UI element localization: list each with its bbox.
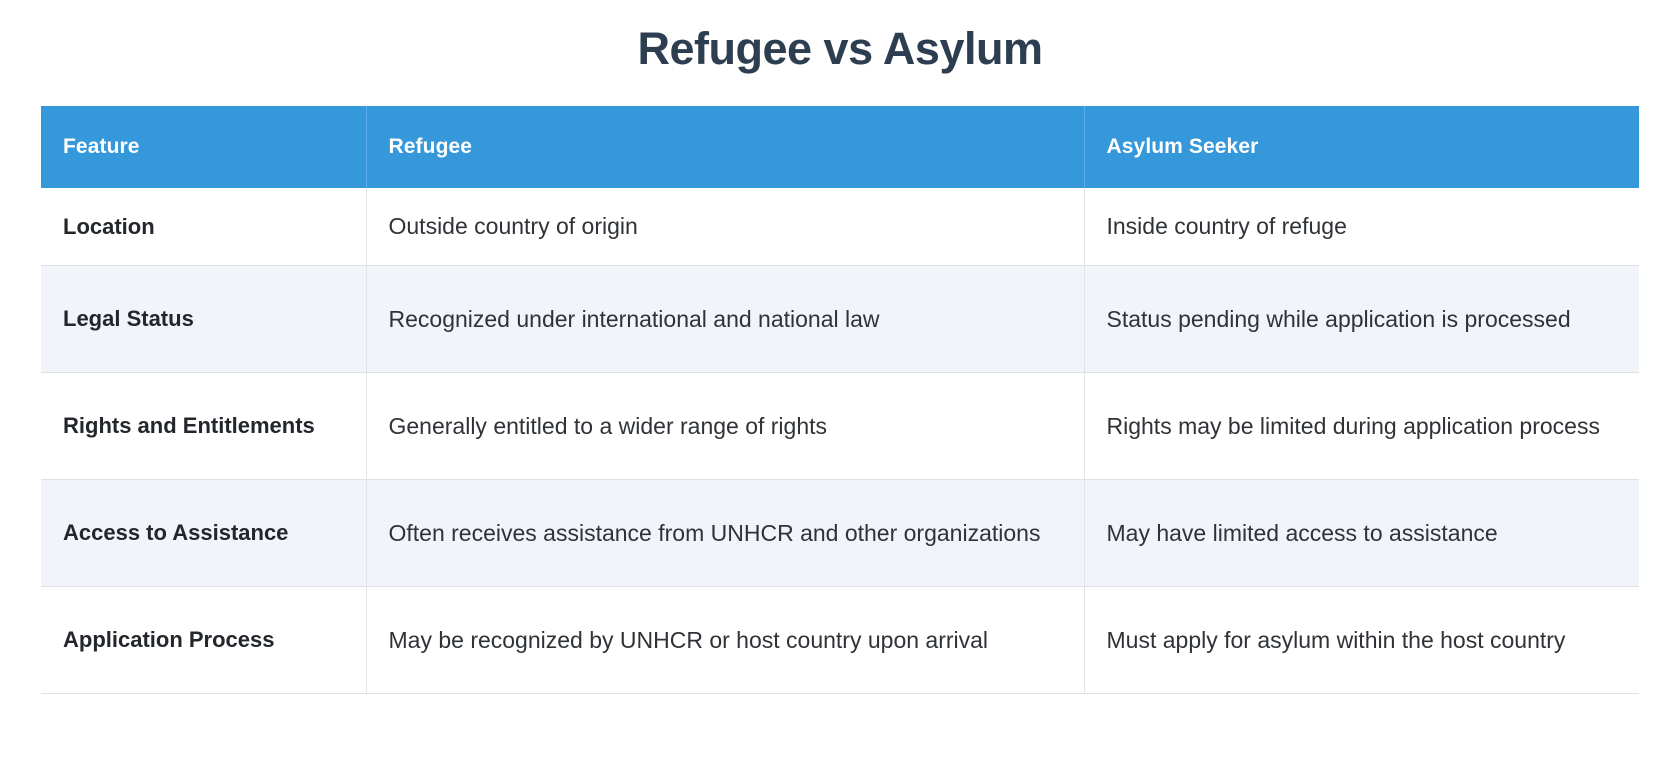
table-row: Location Outside country of origin Insid… <box>41 188 1639 266</box>
table-header: Feature Refugee Asylum Seeker <box>41 106 1639 188</box>
column-header-feature[interactable]: Feature <box>41 106 366 188</box>
cell-refugee: Generally entitled to a wider range of r… <box>366 373 1084 480</box>
cell-refugee: Often receives assistance from UNHCR and… <box>366 480 1084 587</box>
cell-asylum: Must apply for asylum within the host co… <box>1084 587 1639 694</box>
cell-feature: Access to Assistance <box>41 480 366 587</box>
table-row: Legal Status Recognized under internatio… <box>41 266 1639 373</box>
table-row: Rights and Entitlements Generally entitl… <box>41 373 1639 480</box>
comparison-table: Feature Refugee Asylum Seeker Location O… <box>41 106 1639 694</box>
cell-refugee: Outside country of origin <box>366 188 1084 266</box>
cell-asylum: May have limited access to assistance <box>1084 480 1639 587</box>
page-title: Refugee vs Asylum <box>0 0 1680 71</box>
table-row: Access to Assistance Often receives assi… <box>41 480 1639 587</box>
column-header-asylum-seeker[interactable]: Asylum Seeker <box>1084 106 1639 188</box>
column-header-refugee[interactable]: Refugee <box>366 106 1084 188</box>
cell-refugee: May be recognized by UNHCR or host count… <box>366 587 1084 694</box>
cell-asylum: Rights may be limited during application… <box>1084 373 1639 480</box>
page-root: Refugee vs Asylum Feature Refugee Asylum… <box>0 0 1680 772</box>
cell-feature: Legal Status <box>41 266 366 373</box>
table-body: Location Outside country of origin Insid… <box>41 188 1639 694</box>
cell-feature: Location <box>41 188 366 266</box>
cell-feature: Rights and Entitlements <box>41 373 366 480</box>
cell-asylum: Inside country of refuge <box>1084 188 1639 266</box>
cell-asylum: Status pending while application is proc… <box>1084 266 1639 373</box>
cell-refugee: Recognized under international and natio… <box>366 266 1084 373</box>
comparison-table-container: Feature Refugee Asylum Seeker Location O… <box>41 106 1639 694</box>
table-header-row: Feature Refugee Asylum Seeker <box>41 106 1639 188</box>
table-row: Application Process May be recognized by… <box>41 587 1639 694</box>
cell-feature: Application Process <box>41 587 366 694</box>
